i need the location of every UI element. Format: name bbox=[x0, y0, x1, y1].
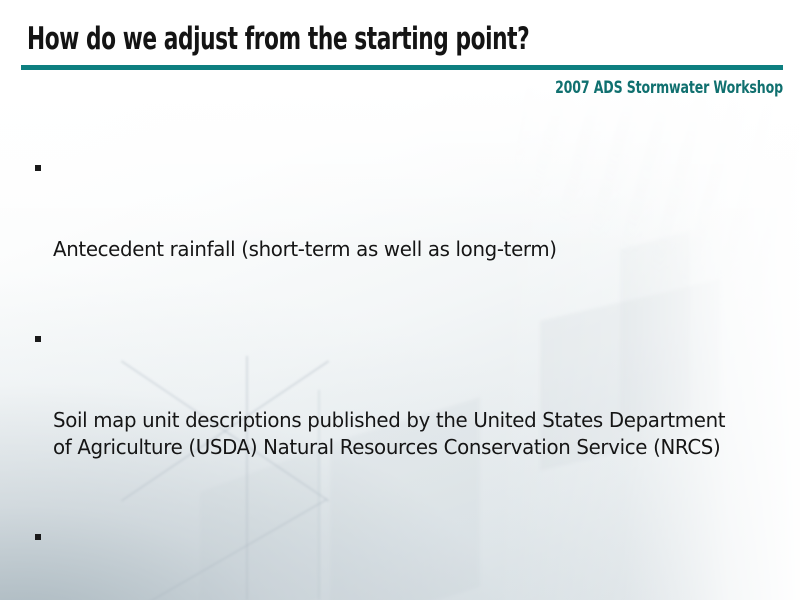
bullet-text: Soil map unit descriptions published by … bbox=[53, 407, 748, 461]
square-bullet-icon bbox=[35, 165, 41, 171]
slide-title: How do we adjust from the starting point… bbox=[27, 23, 529, 56]
bullet-list-item: Antecedent rainfall (short-term as well … bbox=[33, 155, 773, 317]
title-divider-rule bbox=[21, 65, 783, 70]
square-bullet-icon bbox=[35, 336, 41, 342]
slide-subtitle: 2007 ADS Stormwater Workshop bbox=[555, 78, 783, 98]
bullet-list-item: Soil map unit descriptions published by … bbox=[33, 326, 773, 515]
presentation-slide: How do we adjust from the starting point… bbox=[0, 0, 800, 600]
bullet-text: Antecedent rainfall (short-term as well … bbox=[53, 236, 748, 263]
bullet-list: Antecedent rainfall (short-term as well … bbox=[33, 155, 773, 600]
bullet-list-item: Examination of the soil profile, includi… bbox=[33, 524, 773, 600]
square-bullet-icon bbox=[35, 534, 41, 540]
